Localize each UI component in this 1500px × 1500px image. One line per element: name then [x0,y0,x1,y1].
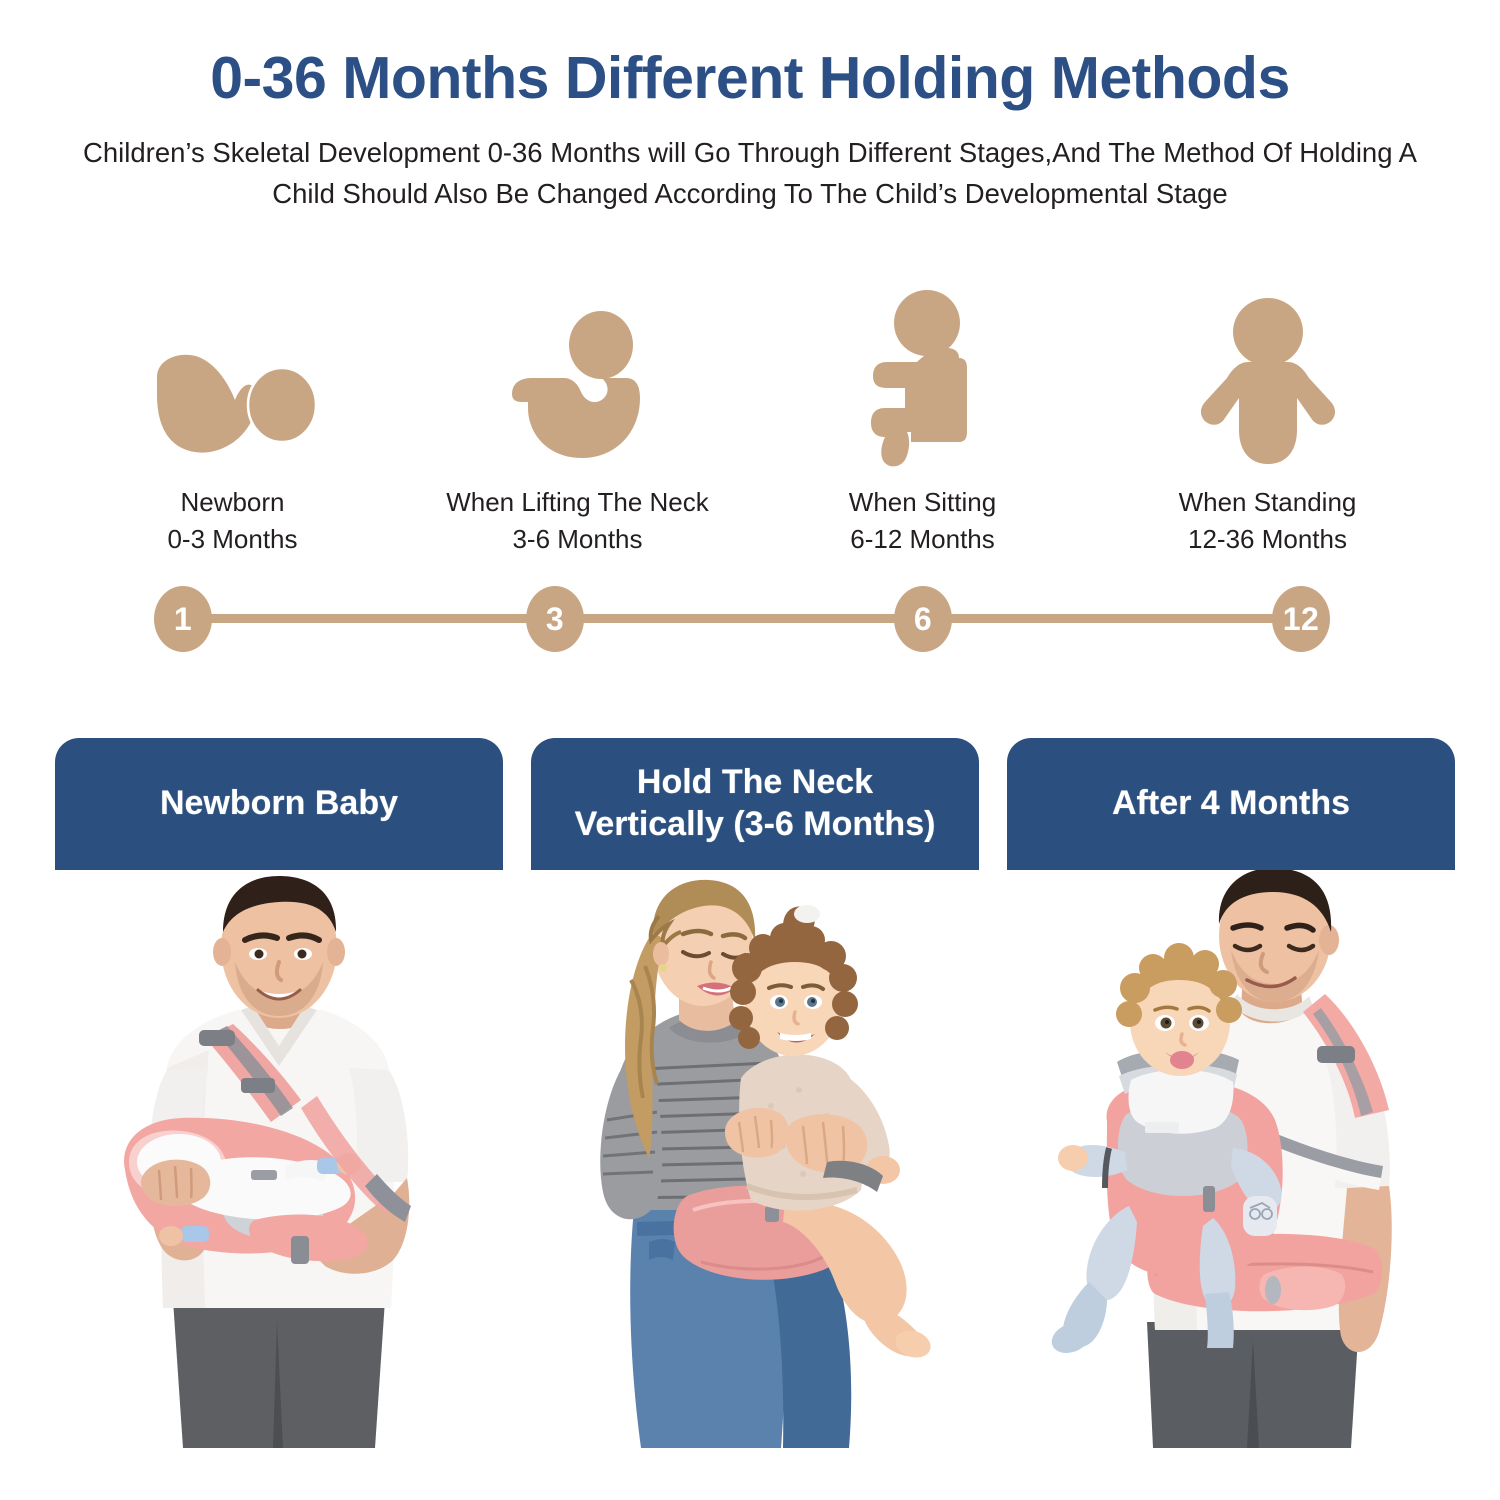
timeline-node-1[interactable]: 1 [154,586,212,652]
card-after-4-months: After 4 Months [1007,738,1455,1448]
baby-lying-icon [145,290,320,470]
subtitle-line-2: Child Should Also Be Changed According T… [50,173,1450,214]
timeline-track [183,614,1301,623]
page-subtitle: Children’s Skeletal Development 0-36 Mon… [50,110,1450,215]
timeline-node-6[interactable]: 6 [894,586,952,652]
page-title: 0-36 Months Different Holding Methods [0,0,1500,110]
stage-label-primary: When Standing [1179,484,1357,521]
photo-man-cradling-newborn-in-pink-carrier [55,870,503,1448]
stage-lifting-neck: When Lifting The Neck 3-6 Months [405,290,750,570]
stage-sitting-labels: When Sitting 6-12 Months [849,484,996,558]
card-header-newborn-baby: Newborn Baby [55,738,503,870]
card-subtitle: Vertically (3-6 Months) [575,805,936,843]
stage-standing: When Standing 12-36 Months [1095,290,1440,570]
baby-lifting-neck-icon [498,290,658,470]
stage-newborn: Newborn 0-3 Months [60,290,405,570]
stage-label-age: 0-3 Months [167,521,297,558]
baby-standing-icon [1193,290,1343,470]
development-stages-row: Newborn 0-3 Months When Lifting The Neck… [60,290,1440,570]
holding-method-cards: Newborn Baby [55,738,1455,1448]
baby-sitting-icon [855,290,990,470]
stage-lifting-neck-labels: When Lifting The Neck 3-6 Months [446,484,709,558]
stage-label-primary: When Lifting The Neck [446,484,709,521]
card-title: Hold The Neck [637,763,873,801]
card-header-hold-the-neck-vertically: Hold The Neck Vertically (3-6 Months) [531,738,979,870]
card-title: After 4 Months [1112,783,1350,825]
stage-label-age: 6-12 Months [849,521,996,558]
stage-newborn-labels: Newborn 0-3 Months [167,484,297,558]
stage-standing-labels: When Standing 12-36 Months [1179,484,1357,558]
subtitle-line-1: Children’s Skeletal Development 0-36 Mon… [50,132,1450,173]
stage-sitting: When Sitting 6-12 Months [750,290,1095,570]
photo-man-with-toddler-in-pink-front-carrier [1007,870,1455,1448]
stage-label-age: 12-36 Months [1179,521,1357,558]
timeline-node-12[interactable]: 12 [1272,586,1330,652]
stage-label-age: 3-6 Months [446,521,709,558]
card-title: Newborn Baby [160,783,398,825]
card-header-after-4-months: After 4 Months [1007,738,1455,870]
stage-label-primary: When Sitting [849,484,996,521]
photo-woman-holding-toddler-on-pink-hip-seat [531,870,979,1448]
page-header: 0-36 Months Different Holding Methods Ch… [0,0,1500,214]
age-timeline: 1 3 6 12 [150,586,1334,652]
timeline-node-3[interactable]: 3 [526,586,584,652]
card-newborn-baby: Newborn Baby [55,738,503,1448]
card-hold-the-neck-vertically: Hold The Neck Vertically (3-6 Months) [531,738,979,1448]
stage-label-primary: Newborn [167,484,297,521]
